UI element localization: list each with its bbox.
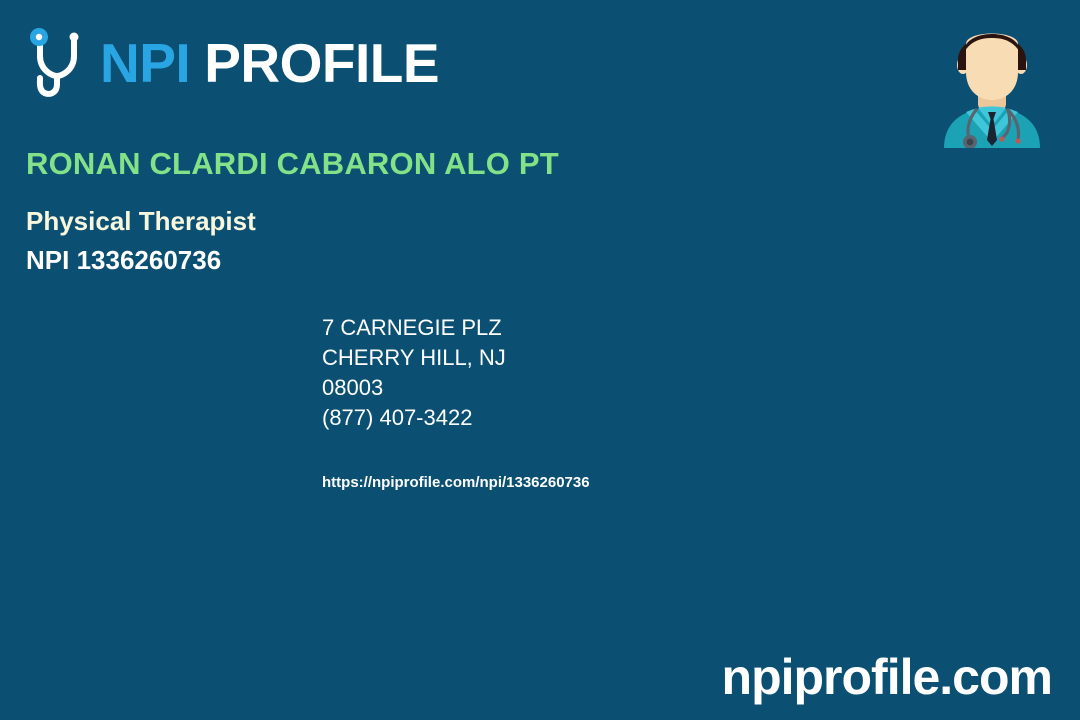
logo-wordmark: NPI PROFILE (100, 36, 439, 91)
provider-name: RONAN CLARDI CABARON ALO PT (26, 146, 886, 182)
site-logo[interactable]: NPI PROFILE (26, 26, 439, 100)
provider-npi-number: NPI 1336260736 (26, 245, 886, 276)
provider-address: 7 CARNEGIE PLZ CHERRY HILL, NJ 08003 (87… (322, 313, 506, 433)
profile-url-link[interactable]: https://npiprofile.com/npi/1336260736 (322, 474, 590, 491)
address-phone: (877) 407-3422 (322, 403, 506, 433)
logo-profile-text: PROFILE (204, 36, 439, 91)
footer-site-name: npiprofile.com (722, 652, 1052, 702)
doctor-avatar (922, 8, 1062, 148)
address-street: 7 CARNEGIE PLZ (322, 313, 506, 343)
provider-taxonomy: Physical Therapist (26, 206, 886, 237)
stethoscope-icon (26, 26, 88, 100)
address-postal-code: 08003 (322, 373, 506, 403)
logo-npi-text: NPI (100, 36, 190, 91)
provider-info: RONAN CLARDI CABARON ALO PT Physical The… (26, 146, 886, 276)
address-city-state: CHERRY HILL, NJ (322, 343, 506, 373)
